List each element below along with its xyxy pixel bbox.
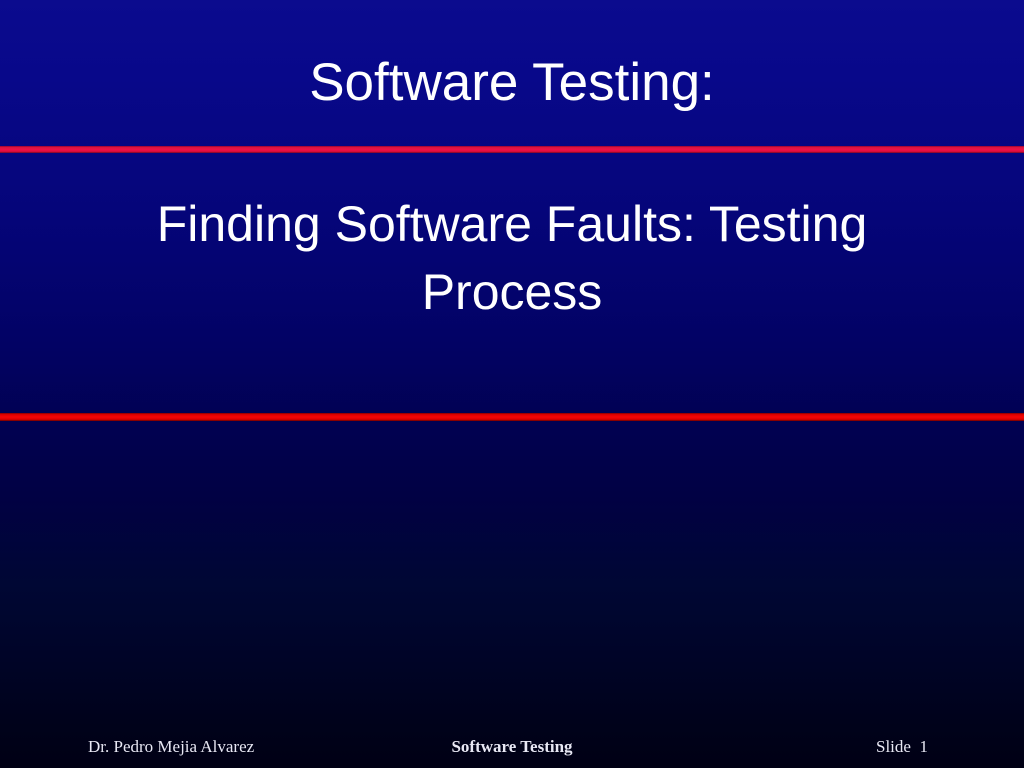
slide-subtitle: Finding Software Faults: Testing Process [62,190,962,326]
divider-rule-top [0,146,1024,153]
slide-footer: Dr. Pedro Mejia Alvarez Software Testing… [0,735,1024,761]
footer-deck-name: Software Testing [0,735,1024,759]
divider-rule-bottom [0,413,1024,421]
slide-title: Software Testing: [0,52,1024,114]
presentation-slide: Software Testing: Finding Software Fault… [0,0,1024,768]
footer-slide-number: Slide 1 [876,735,928,759]
